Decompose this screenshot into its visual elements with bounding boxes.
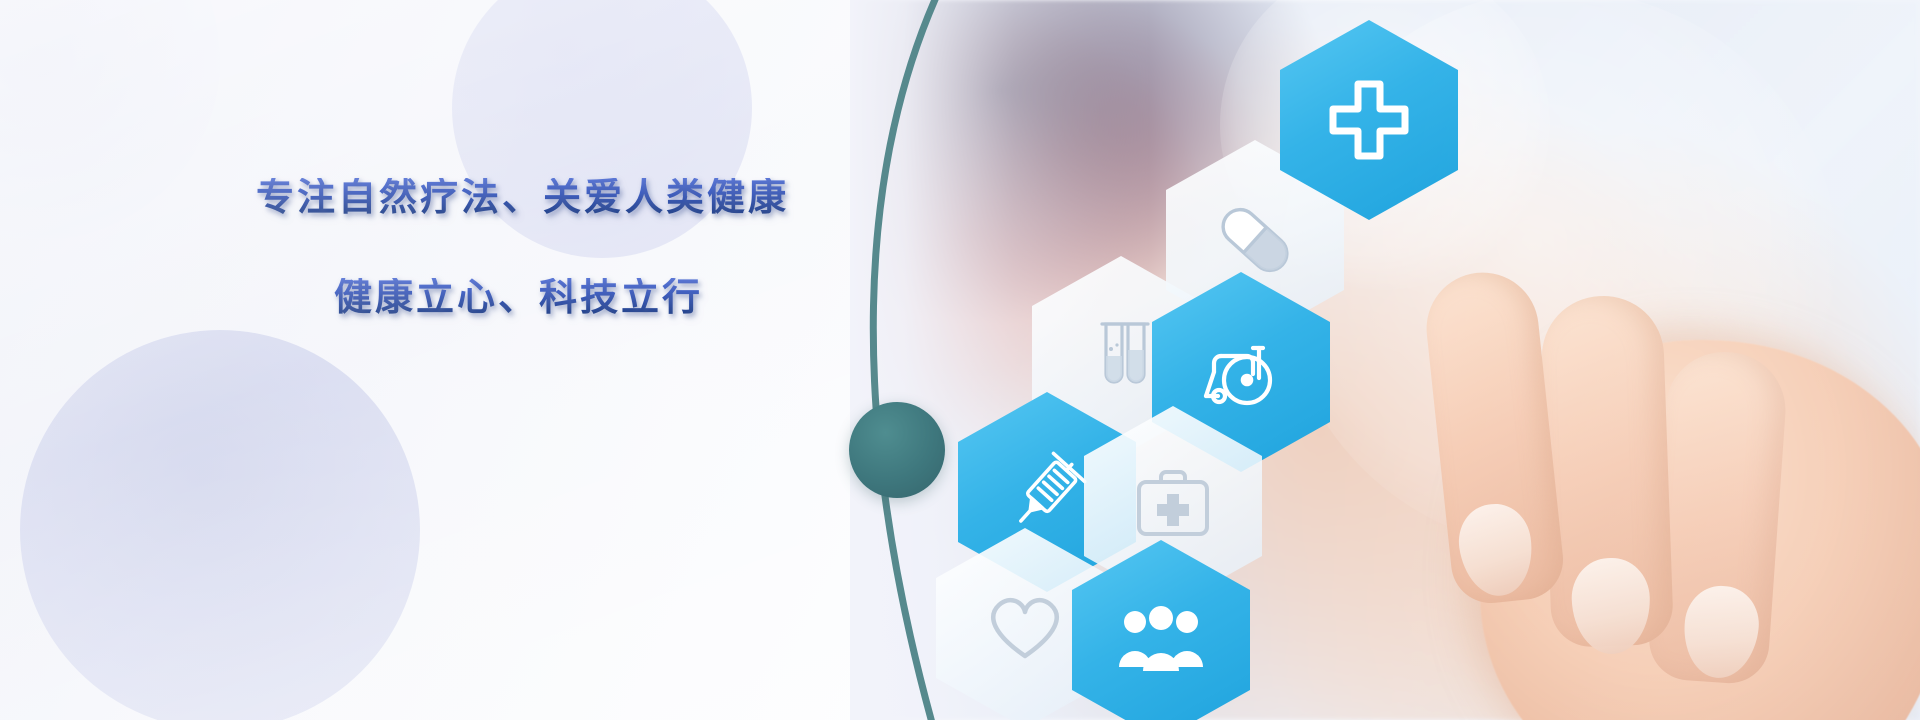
headline-line-2: 健康立心、科技立行 [334, 278, 876, 316]
people-icon [1115, 605, 1207, 675]
medical-cross-icon [1327, 78, 1411, 162]
headline-line-1: 专注自然疗法、关爱人类健康 [256, 178, 876, 216]
heart-icon [983, 590, 1067, 666]
first-aid-kit-icon [1131, 468, 1215, 544]
test-tubes-icon [1086, 316, 1156, 396]
decorative-circle-bottom [20, 330, 420, 720]
hero-banner: 专注自然疗法、关爱人类健康 健康立心、科技立行 [0, 0, 1920, 720]
wheelchair-icon [1197, 330, 1285, 414]
headline-block: 专注自然疗法、关爱人类健康 健康立心、科技立行 [256, 178, 876, 316]
pill-icon [1212, 197, 1298, 283]
hexagon-cluster [920, 0, 1540, 720]
decorative-circle-faint [0, 0, 220, 240]
syringe-icon [1002, 447, 1092, 537]
